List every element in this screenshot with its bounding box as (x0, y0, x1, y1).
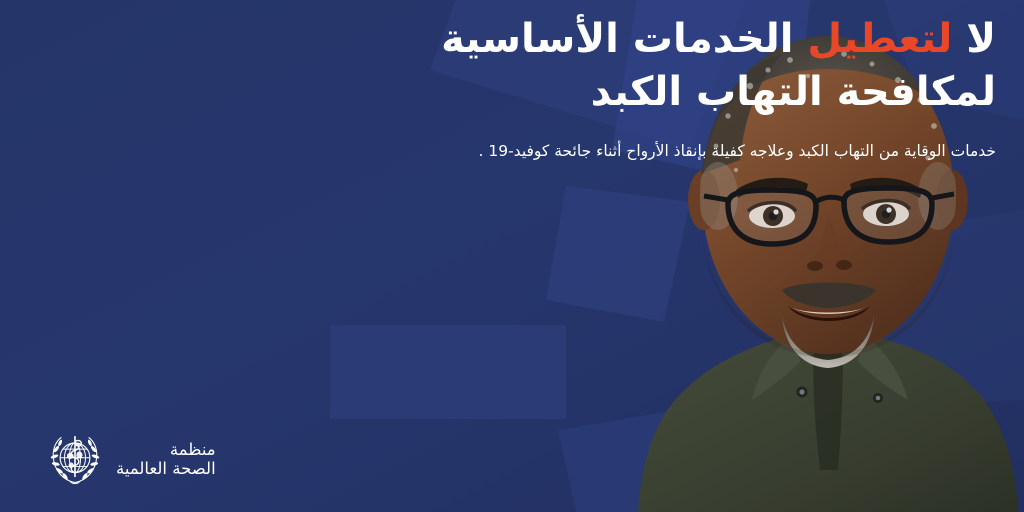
campaign-banner: لا لتعطيل الخدمات الأساسية لمكافحة التها… (0, 0, 1024, 512)
headline-suffix: الخدمات الأساسية (441, 16, 807, 62)
who-emblem-icon (44, 428, 106, 490)
subheadline: خدمات الوقاية من التهاب الكبد وعلاجه كفي… (306, 140, 996, 162)
background-shape-rect-center (330, 325, 566, 419)
headline-prefix: لا (952, 16, 996, 62)
headline-line-2: لمكافحة التهاب الكبد (306, 67, 996, 118)
copy-block: لا لتعطيل الخدمات الأساسية لمكافحة التها… (306, 14, 996, 163)
headline-accent-word: لتعطيل (807, 16, 952, 62)
who-wordmark-line-2: الصحة العالمية (116, 459, 216, 478)
who-logo-lockup: منظمة الصحة العالمية (44, 428, 216, 490)
who-wordmark: منظمة الصحة العالمية (116, 440, 216, 479)
headline-line-1: لا لتعطيل الخدمات الأساسية (306, 14, 996, 65)
who-wordmark-line-1: منظمة (116, 440, 216, 459)
